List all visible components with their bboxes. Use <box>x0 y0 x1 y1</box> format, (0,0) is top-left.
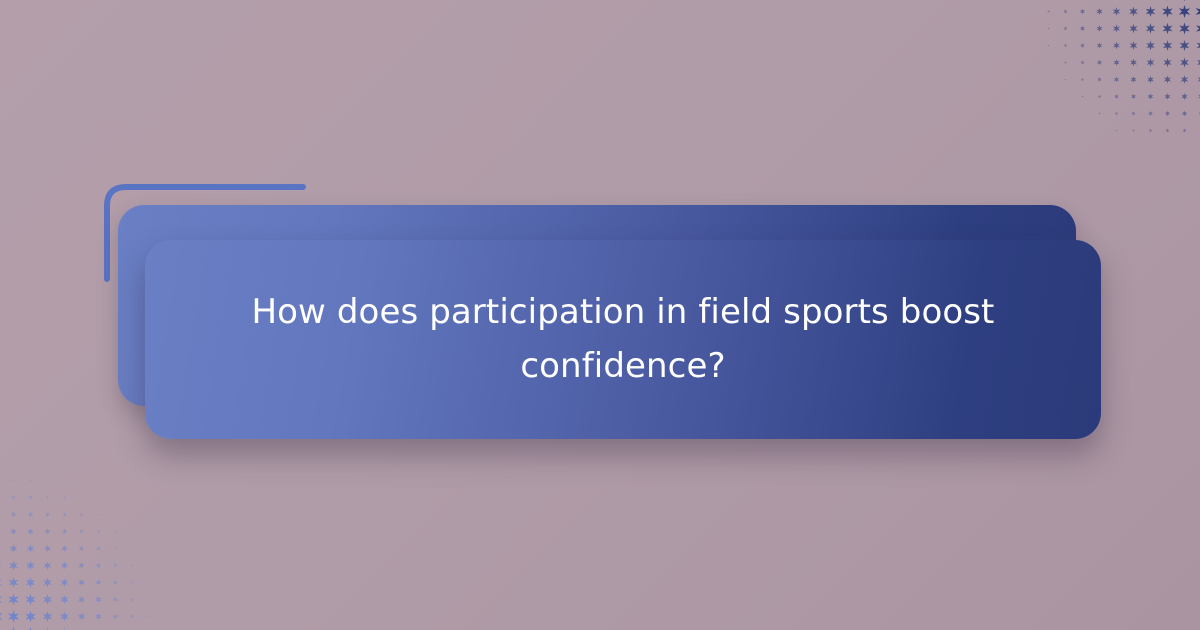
headline-text: How does participation in field sports b… <box>243 286 1003 393</box>
headline-container: How does participation in field sports b… <box>145 240 1101 439</box>
poster-canvas: How does participation in field sports b… <box>0 0 1200 630</box>
